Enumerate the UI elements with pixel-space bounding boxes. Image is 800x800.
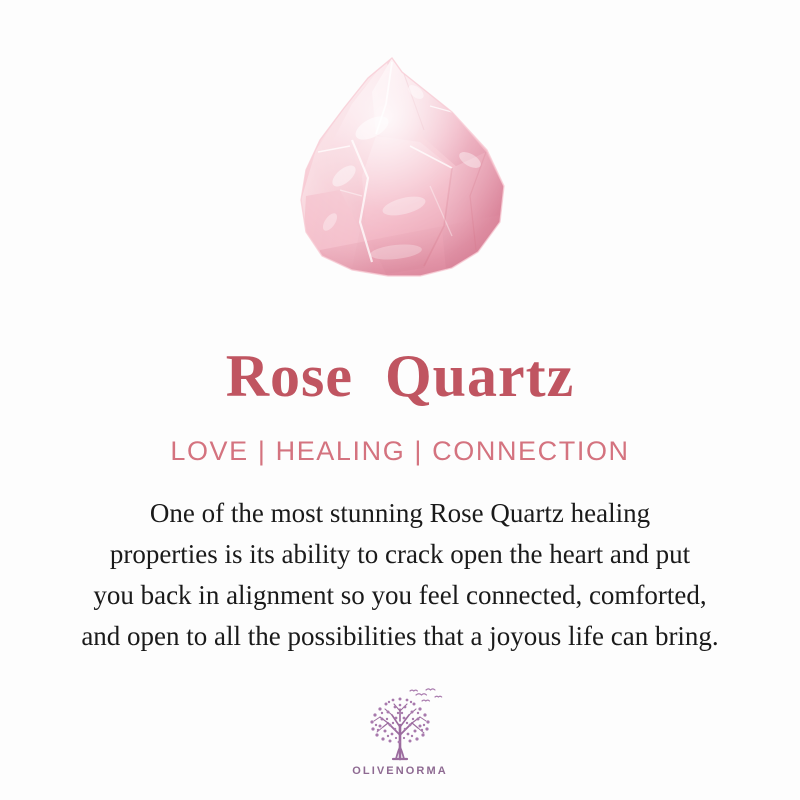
brand-logo: OLIVENORMA xyxy=(352,685,448,777)
tree-with-birds-icon xyxy=(352,685,448,761)
description-line: you back in alignment so you feel connec… xyxy=(30,575,770,616)
description-text: One of the most stunning Rose Quartz hea… xyxy=(30,493,770,657)
description-line: One of the most stunning Rose Quartz hea… xyxy=(30,493,770,534)
rose-quartz-info-card: Rose Quartz LOVE | HEALING | CONNECTION … xyxy=(0,0,800,800)
keyword-subtitle: LOVE | HEALING | CONNECTION xyxy=(170,436,629,467)
description-line: properties is its ability to crack open … xyxy=(30,534,770,575)
brand-wordmark: OLIVENORMA xyxy=(352,765,448,777)
hero-image-container xyxy=(0,0,800,300)
description-line: and open to all the possibilities that a… xyxy=(30,616,770,657)
page-title: Rose Quartz xyxy=(226,346,575,406)
rose-quartz-crystal-photo xyxy=(0,0,800,300)
